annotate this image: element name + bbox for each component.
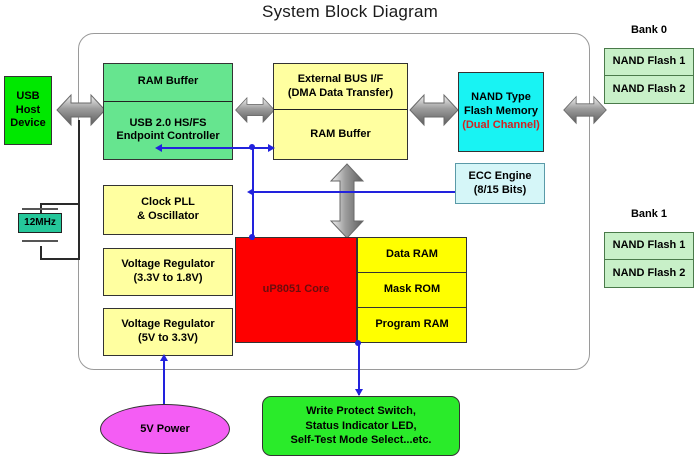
program-ram-block: Program RAM <box>357 307 467 343</box>
voltage-regulator-2-block: Voltage Regulator (5V to 3.3V) <box>103 308 233 356</box>
external-bus-interface-block: External BUS I/F (DMA Data Transfer) RAM… <box>273 63 408 160</box>
bank-0-label: Bank 0 <box>604 24 694 36</box>
arrow-nand-controller-to-bank0 <box>562 88 608 132</box>
bus-arrow-to-extbus <box>268 144 275 152</box>
ecc-line-1: ECC Engine <box>469 170 532 184</box>
bank-0-chip-2-label: NAND Flash 2 <box>613 83 686 97</box>
bank-0-nand-flash-1: NAND Flash 1 <box>604 48 694 76</box>
crystal-label: 12MHz <box>24 217 56 230</box>
usb-controller-line-1: USB 2.0 HS/FS <box>129 117 206 131</box>
bus-node-branch-148 <box>249 144 255 150</box>
arrow-extbus-to-nand-controller <box>408 88 460 132</box>
ecc-line-2: (8/15 Bits) <box>474 184 527 198</box>
status-controls-block: Write Protect Switch, Status Indicator L… <box>262 396 460 456</box>
nand-ctrl-line-1: NAND Type <box>471 91 531 105</box>
crystal-wire-bottom-rise <box>40 246 42 259</box>
arrow-extbus-to-core-vertical <box>325 162 369 240</box>
page-title: System Block Diagram <box>0 2 700 22</box>
extbus-ram-buffer-label: RAM Buffer <box>310 128 371 142</box>
mask-rom-block: Mask ROM <box>357 272 467 308</box>
crystal-wire-top <box>40 203 79 205</box>
bus-node-core-top <box>249 234 255 240</box>
voltage-regulator-1-block: Voltage Regulator (3.3V to 1.8V) <box>103 248 233 296</box>
bank-0-nand-flash-2: NAND Flash 2 <box>604 76 694 104</box>
nand-ctrl-dual-channel-label: (Dual Channel) <box>462 119 540 133</box>
bus-branch-ecc <box>252 191 455 193</box>
usb-host-line-2: Host <box>16 104 40 118</box>
bus-node-core-bottom <box>355 340 361 346</box>
clock-pll-line-2: & Oscillator <box>137 210 199 224</box>
arrow-usb-host-to-controller <box>55 88 107 132</box>
cpu-core-block: uP8051 Core <box>235 237 357 343</box>
bus-arrow-to-spine-from-ecc <box>247 188 254 196</box>
clock-pll-block: Clock PLL & Oscillator <box>103 185 233 235</box>
system-block-diagram: System Block Diagram <box>0 0 700 459</box>
crystal-plate-top <box>22 208 58 210</box>
bus-core-to-status <box>358 343 360 395</box>
extbus-top-section: External BUS I/F (DMA Data Transfer) <box>274 64 407 109</box>
vreg1-line-2: (3.3V to 1.8V) <box>133 272 202 286</box>
power-source-label: 5V Power <box>140 423 190 435</box>
usb-endpoint-group-block: RAM Buffer USB 2.0 HS/FS Endpoint Contro… <box>103 63 233 160</box>
status-line-2: Status Indicator LED, <box>305 419 416 434</box>
bus-power-to-regulator <box>163 358 165 408</box>
usb-host-line-1: USB <box>16 90 39 104</box>
cpu-core-label: uP8051 Core <box>263 283 330 297</box>
crystal-plate-bottom <box>22 240 58 242</box>
usb-host-line-3: Device <box>10 117 45 131</box>
vreg1-line-1: Voltage Regulator <box>121 258 214 272</box>
data-ram-block: Data RAM <box>357 237 467 273</box>
arrow-usb-controller-to-extbus <box>234 88 276 132</box>
status-line-1: Write Protect Switch, <box>306 404 416 419</box>
extbus-ram-buffer-section: RAM Buffer <box>274 109 407 159</box>
usb-controller-line-2: Endpoint Controller <box>116 130 219 144</box>
usb-ram-buffer-section: RAM Buffer <box>104 64 232 101</box>
clock-pll-line-1: Clock PLL <box>141 196 195 210</box>
program-ram-label: Program RAM <box>375 318 448 332</box>
bus-branch-usb-extbus <box>160 147 273 149</box>
bank-1-label: Bank 1 <box>604 208 694 220</box>
bus-arrow-to-usb-controller <box>155 144 162 152</box>
extbus-line-2: (DMA Data Transfer) <box>288 87 393 101</box>
crystal-12mhz-block: 12MHz <box>18 213 62 233</box>
power-source-block: 5V Power <box>100 404 230 454</box>
data-ram-label: Data RAM <box>386 248 438 262</box>
usb-host-device-block: USB Host Device <box>4 76 52 145</box>
vreg2-line-1: Voltage Regulator <box>121 318 214 332</box>
status-line-3: Self-Test Mode Select...etc. <box>290 433 431 448</box>
crystal-wire-bottom <box>40 258 79 260</box>
usb-controller-section: USB 2.0 HS/FS Endpoint Controller <box>104 101 232 159</box>
bank-1-chip-2-label: NAND Flash 2 <box>613 267 686 281</box>
nand-flash-controller-block: NAND Type Flash Memory (Dual Channel) <box>458 72 544 152</box>
bank-1-nand-flash-2: NAND Flash 2 <box>604 260 694 288</box>
ecc-engine-block: ECC Engine (8/15 Bits) <box>455 163 545 204</box>
crystal-wire-bus <box>78 120 80 260</box>
extbus-line-1: External BUS I/F <box>298 73 384 87</box>
mask-rom-label: Mask ROM <box>384 283 440 297</box>
nand-ctrl-line-2: Flash Memory <box>464 105 538 119</box>
bank-1-chip-1-label: NAND Flash 1 <box>613 239 686 253</box>
vreg2-line-2: (5V to 3.3V) <box>138 332 198 346</box>
bus-arrow-to-regulator <box>160 354 168 361</box>
bank-0-chip-1-label: NAND Flash 1 <box>613 55 686 69</box>
usb-ram-buffer-label: RAM Buffer <box>138 75 199 89</box>
bank-1-nand-flash-1: NAND Flash 1 <box>604 232 694 260</box>
bus-arrow-to-status-box <box>355 389 363 396</box>
